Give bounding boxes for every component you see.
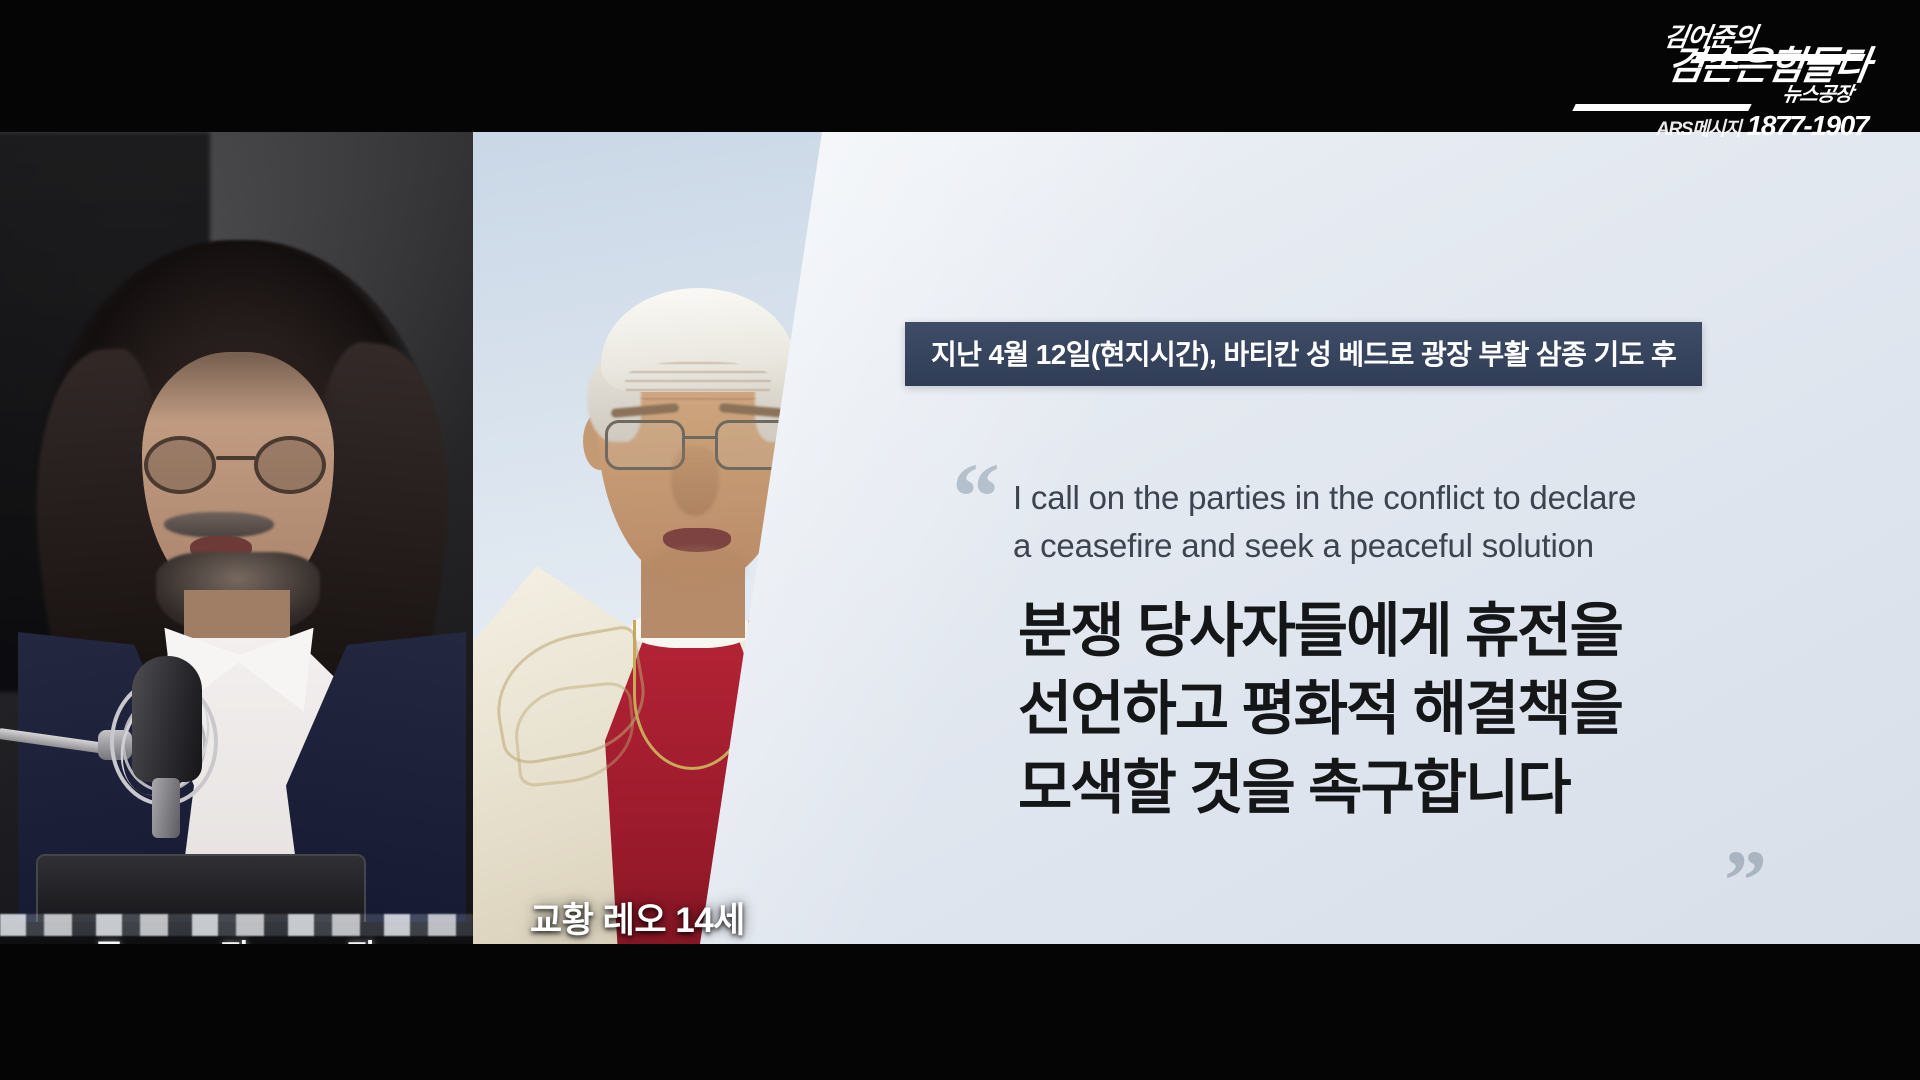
host-glasses-bridge xyxy=(216,456,256,460)
english-quote-line-1: I call on the parties in the conflict to… xyxy=(1013,474,1636,522)
letterbox-bottom xyxy=(0,944,1920,1080)
english-quote: I call on the parties in the conflict to… xyxy=(1013,474,1636,569)
pope-forehead-lines xyxy=(625,362,771,404)
ars-number: 1877-1907 xyxy=(1747,110,1868,141)
mic-capsule xyxy=(132,656,202,782)
desk-plate-label: 공 장 장 xyxy=(0,930,473,944)
logo-line-3: 뉴스공장 xyxy=(1566,85,1853,105)
mic-stem xyxy=(152,778,180,838)
ars-label: ARS메시지 xyxy=(1656,119,1740,140)
context-banner: 지난 4월 12일(현지시간), 바티칸 성 베드로 광장 부활 삼종 기도 후 xyxy=(905,322,1702,386)
pope-nose xyxy=(671,446,719,516)
host-glasses-icon xyxy=(142,436,338,496)
pope-chin-shadow xyxy=(647,546,747,590)
desk-char-2: 장 xyxy=(220,930,252,944)
pope-glasses-bridge xyxy=(685,436,715,439)
host-lens-left xyxy=(144,436,216,494)
quote-open-mark: “ xyxy=(952,462,1000,531)
pope-name-caption: 교황 레오 14세 xyxy=(530,892,745,943)
desk-char-1: 공 xyxy=(94,930,126,944)
host-lens-right xyxy=(254,436,326,494)
korean-quote-line-1: 분쟁 당사자들에게 휴전을 xyxy=(1018,592,1622,670)
english-quote-line-2: a ceasefire and seek a peaceful solution xyxy=(1013,522,1636,570)
korean-quote-line-3: 모색할 것을 촉구합니다 xyxy=(1018,749,1622,827)
desk-char-3: 장 xyxy=(347,930,379,944)
logo-ars-info: ARS메시지 1877-1907 xyxy=(1656,110,1868,142)
host-mustache xyxy=(164,512,274,538)
studio-camera-panel: 공 장 장 xyxy=(0,132,473,944)
korean-quote-line-2: 선언하고 평화적 해결책을 xyxy=(1018,670,1622,748)
broadcast-screen: 공 장 장 xyxy=(0,0,1920,1080)
studio-desk-plate: 공 장 장 xyxy=(0,922,473,944)
content-band: 공 장 장 xyxy=(0,132,1920,944)
quote-close-mark: ” xyxy=(1724,850,1767,910)
program-logo: 김어준의 겸손은힘들다 뉴스공장 ARS메시지 1877-1907 xyxy=(1568,24,1868,132)
logo-line-2: 겸손은힘들다 xyxy=(1565,47,1871,87)
studio-microphone-icon xyxy=(6,652,216,882)
korean-quote: 분쟁 당사자들에게 휴전을 선언하고 평화적 해결책을 모색할 것을 촉구합니다 xyxy=(1018,592,1622,827)
